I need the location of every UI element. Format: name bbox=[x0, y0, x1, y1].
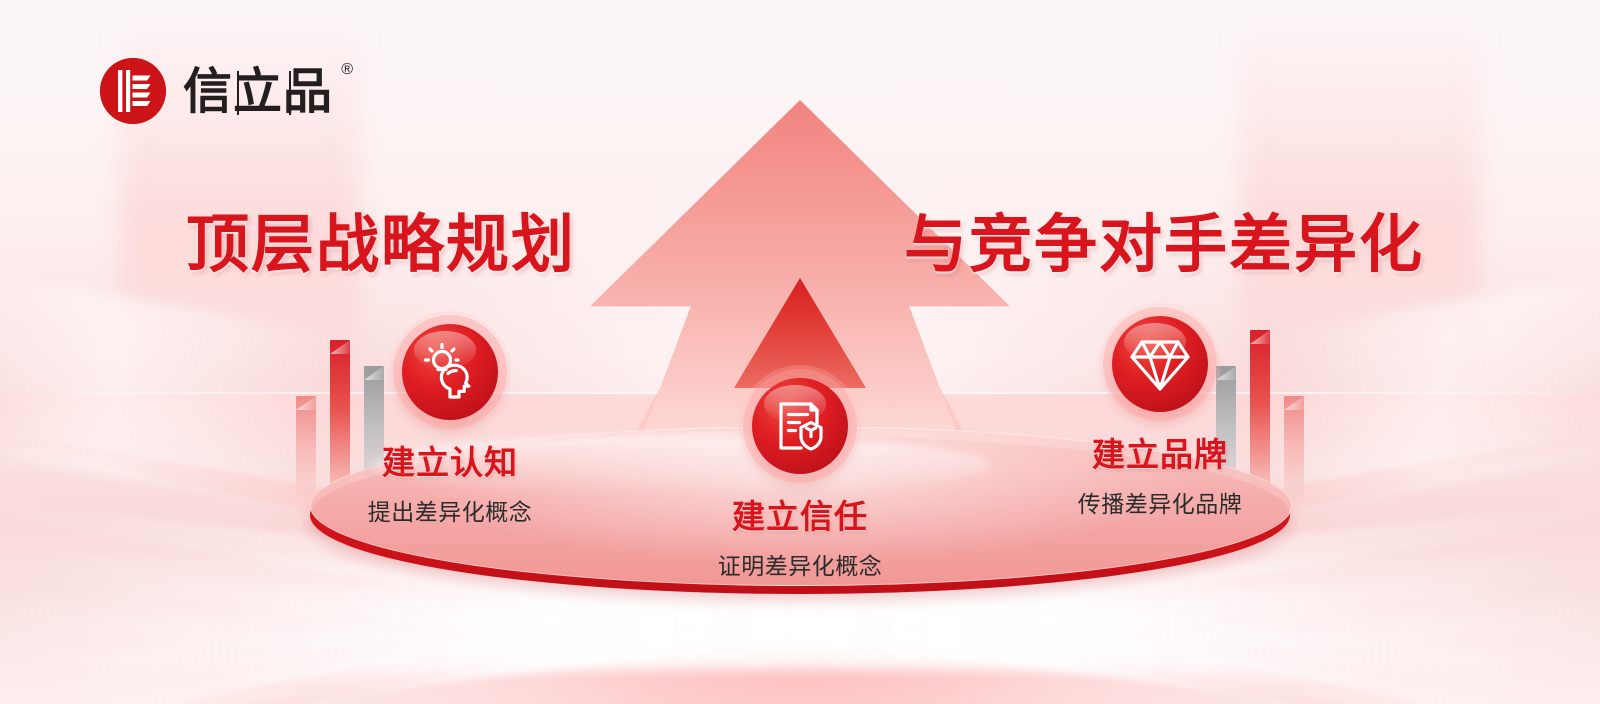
headline-left: 顶层战略规划 bbox=[186, 214, 576, 277]
wordmark-divider bbox=[237, 71, 239, 115]
pillar-title: 建立信任 bbox=[660, 490, 940, 538]
xin-circle-logo-icon bbox=[100, 58, 166, 124]
poster-canvas: 顶层战略规划 与竞争对手差异化 建立认知 提出差异化概念 bbox=[0, 0, 1600, 704]
wordmark-divider bbox=[289, 71, 291, 115]
brand-wordmark: 信立品 ® bbox=[183, 67, 333, 116]
head-lightbulb-icon bbox=[402, 324, 498, 420]
pillar-subtitle: 提出差异化概念 bbox=[310, 493, 590, 527]
headline-right: 与竞争对手差异化 bbox=[904, 214, 1424, 277]
pillar-subtitle: 证明差异化概念 bbox=[660, 547, 940, 581]
pillar-build-brand[interactable]: 建立品牌 传播差异化品牌 bbox=[1020, 316, 1300, 519]
diamond-icon bbox=[1112, 316, 1208, 412]
left-light-beam bbox=[0, 271, 320, 508]
right-light-beam bbox=[1280, 271, 1600, 508]
brand-logo[interactable]: 信立品 ® bbox=[100, 58, 333, 124]
pillar-build-trust[interactable]: 建立信任 证明差异化概念 bbox=[660, 378, 940, 581]
registered-trademark-symbol: ® bbox=[341, 61, 353, 79]
pillar-title: 建立品牌 bbox=[1020, 428, 1300, 476]
wordmark-text: 信立品 bbox=[183, 67, 333, 116]
document-shield-cube-icon bbox=[752, 378, 848, 474]
pillar-subtitle: 传播差异化品牌 bbox=[1020, 485, 1300, 519]
pillar-title: 建立认知 bbox=[310, 436, 590, 484]
pillar-build-awareness[interactable]: 建立认知 提出差异化概念 bbox=[310, 324, 590, 527]
